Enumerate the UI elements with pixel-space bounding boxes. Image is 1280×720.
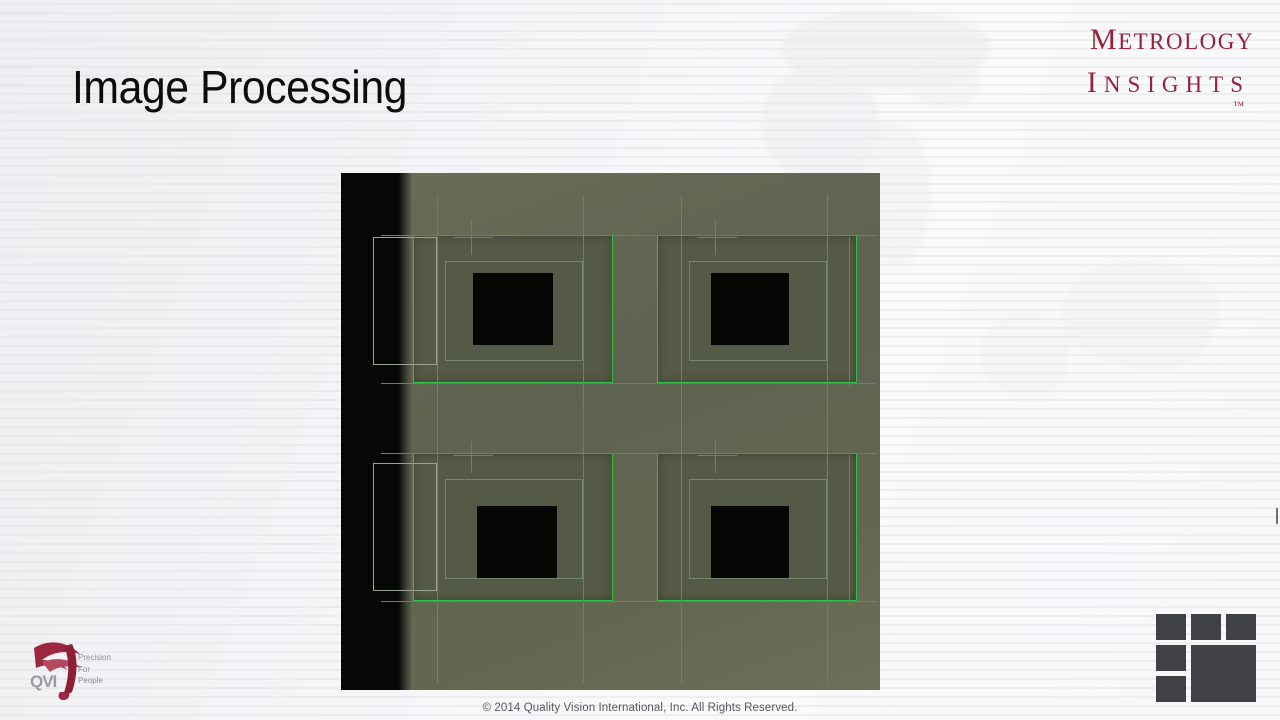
qvi-tagline-line1: Precision — [78, 652, 111, 664]
metrology-insights-logo: Metrology Insights ™ — [1087, 14, 1254, 100]
measure-box-tl-inner[interactable] — [445, 261, 583, 361]
measure-line-br-h2 — [627, 601, 877, 602]
copyright-notice: © 2014 Quality Vision International, Inc… — [0, 702, 1280, 714]
measure-box-bl-inner[interactable] — [445, 479, 583, 579]
measure-line-tr-h1 — [627, 235, 877, 236]
measure-box-tr-inner[interactable] — [689, 261, 827, 361]
crosshair-br-v — [715, 441, 716, 473]
measure-box-br-inner[interactable] — [689, 479, 827, 579]
mosaic-tile-2 — [1191, 614, 1221, 640]
measure-line-tr-v3 — [849, 237, 850, 387]
trademark-icon: ™ — [1233, 101, 1244, 112]
qvi-tagline: Precision For People — [78, 652, 111, 687]
crosshair-bl-h — [453, 455, 493, 456]
mosaic-logo — [1156, 614, 1256, 702]
right-edge-marker — [1276, 508, 1278, 524]
mosaic-tile-3 — [1226, 614, 1256, 640]
measure-line-bl-h2 — [381, 601, 631, 602]
slide-canvas: Image Processing Metrology Insights ™ — [0, 0, 1280, 720]
mosaic-tile-5 — [1156, 676, 1186, 702]
brand-insights-text: Insights — [1087, 64, 1250, 100]
measure-line-br-h1 — [627, 453, 877, 454]
crosshair-tl-h — [453, 237, 493, 238]
machine-vision-image[interactable] — [341, 173, 880, 690]
crosshair-bl-v — [471, 441, 472, 473]
qvi-swoosh-icon — [16, 630, 136, 706]
measure-line-bl-h1 — [381, 453, 631, 454]
measure-line-tl-h1 — [381, 235, 631, 236]
brand-line-metrology: Metrology — [1087, 14, 1254, 57]
qvi-tagline-line2: For — [78, 664, 111, 676]
mosaic-tile-1 — [1156, 614, 1186, 640]
measure-line-tr-h2 — [627, 383, 877, 384]
measure-line-br-v3 — [849, 455, 850, 605]
page-title: Image Processing — [72, 60, 407, 114]
mosaic-tile-large — [1191, 645, 1256, 702]
qvi-mark-text: QVI — [30, 672, 56, 692]
qvi-logo: QVI Precision For People — [16, 630, 136, 706]
mosaic-tile-4 — [1156, 645, 1186, 671]
brand-line-insights: Insights ™ — [1087, 57, 1254, 100]
qvi-tagline-line3: People — [78, 675, 111, 687]
measure-line-tl-h2 — [381, 383, 631, 384]
crosshair-br-h — [697, 455, 737, 456]
crosshair-tr-h — [697, 237, 737, 238]
